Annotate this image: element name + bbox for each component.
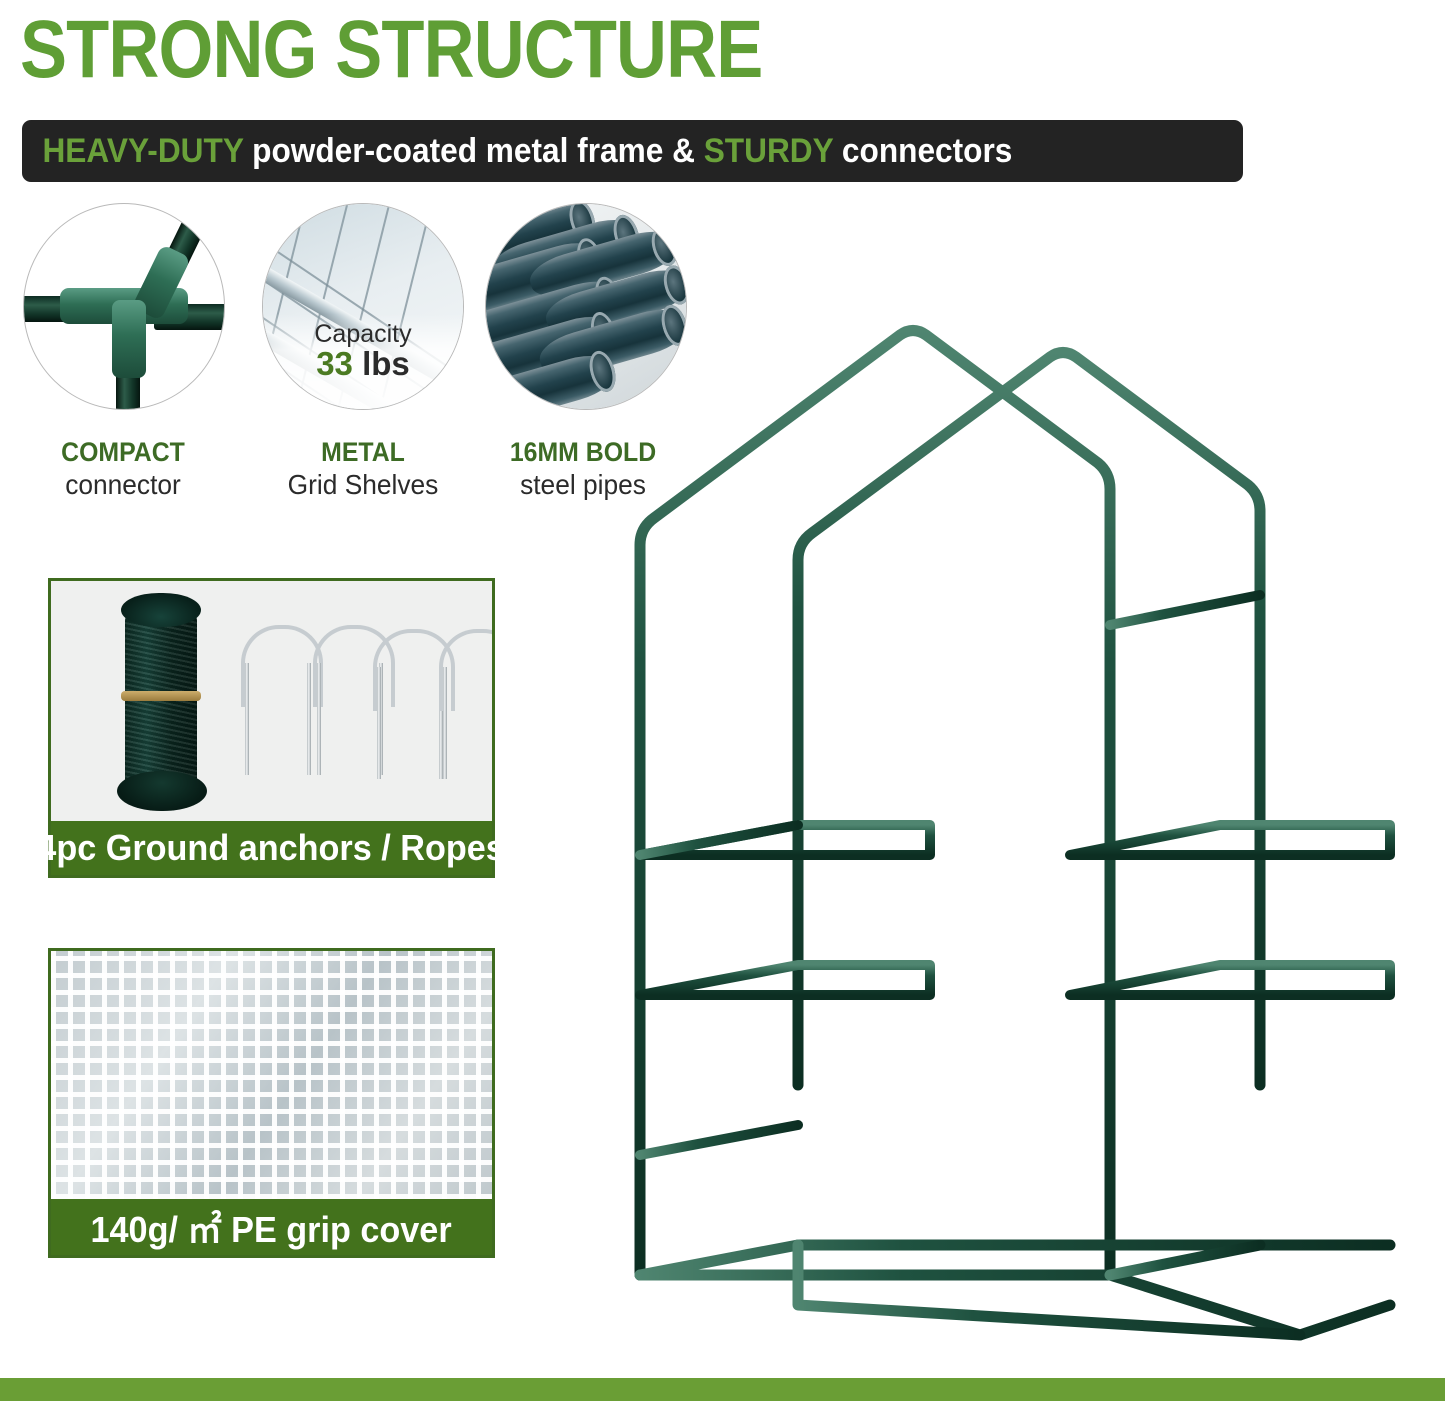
feature-label-compact-connector: COMPACT connector: [8, 436, 238, 502]
feature-label-top: METAL: [257, 436, 469, 468]
panel-caption: 140g/ ㎡ PE grip cover: [91, 1201, 452, 1253]
panel-caption-bar: 4pc Ground anchors / Ropes: [51, 821, 492, 875]
subtitle-banner: HEAVY-DUTY powder-coated metal frame & S…: [22, 120, 1243, 182]
rope-bundle-and-anchors-photo: [51, 581, 492, 821]
subtitle-text: HEAVY-DUTY powder-coated metal frame & S…: [22, 132, 1012, 171]
panel-pe-grip-cover: 140g/ ㎡ PE grip cover: [48, 948, 495, 1258]
greenhouse-frame-svg: [600, 295, 1445, 1365]
subtitle-part-heavy-duty: HEAVY-DUTY: [42, 132, 243, 170]
subtitle-part-end: connectors: [833, 132, 1012, 170]
greenhouse-frame-diagram: [600, 295, 1445, 1365]
pe-mesh-fabric-photo: [51, 951, 492, 1199]
subtitle-part-sturdy: STURDY: [704, 132, 833, 170]
bottom-accent-bar: [0, 1378, 1445, 1401]
feature-label-bottom: Grid Shelves: [255, 468, 471, 502]
feature-circle-metal-grid-shelves: Capacity 33 lbs: [262, 203, 464, 410]
panel-caption: 4pc Ground anchors / Ropes: [38, 827, 505, 869]
feature-label-metal-grid-shelves: METAL Grid Shelves: [248, 436, 478, 502]
infographic-canvas: STRONG STRUCTURE HEAVY-DUTY powder-coate…: [0, 0, 1445, 1401]
pipe-connector-icon: [24, 204, 224, 409]
capacity-overlay-fade: [263, 314, 463, 409]
page-title: STRONG STRUCTURE: [20, 2, 1052, 98]
panel-caption-bar: 140g/ ㎡ PE grip cover: [51, 1199, 492, 1255]
feature-label-top: COMPACT: [17, 436, 229, 468]
feature-label-bottom: connector: [15, 468, 231, 502]
panel-ground-anchors-ropes: 4pc Ground anchors / Ropes: [48, 578, 495, 878]
feature-circle-compact-connector: [23, 203, 225, 410]
subtitle-part-middle: powder-coated metal frame &: [243, 132, 703, 170]
